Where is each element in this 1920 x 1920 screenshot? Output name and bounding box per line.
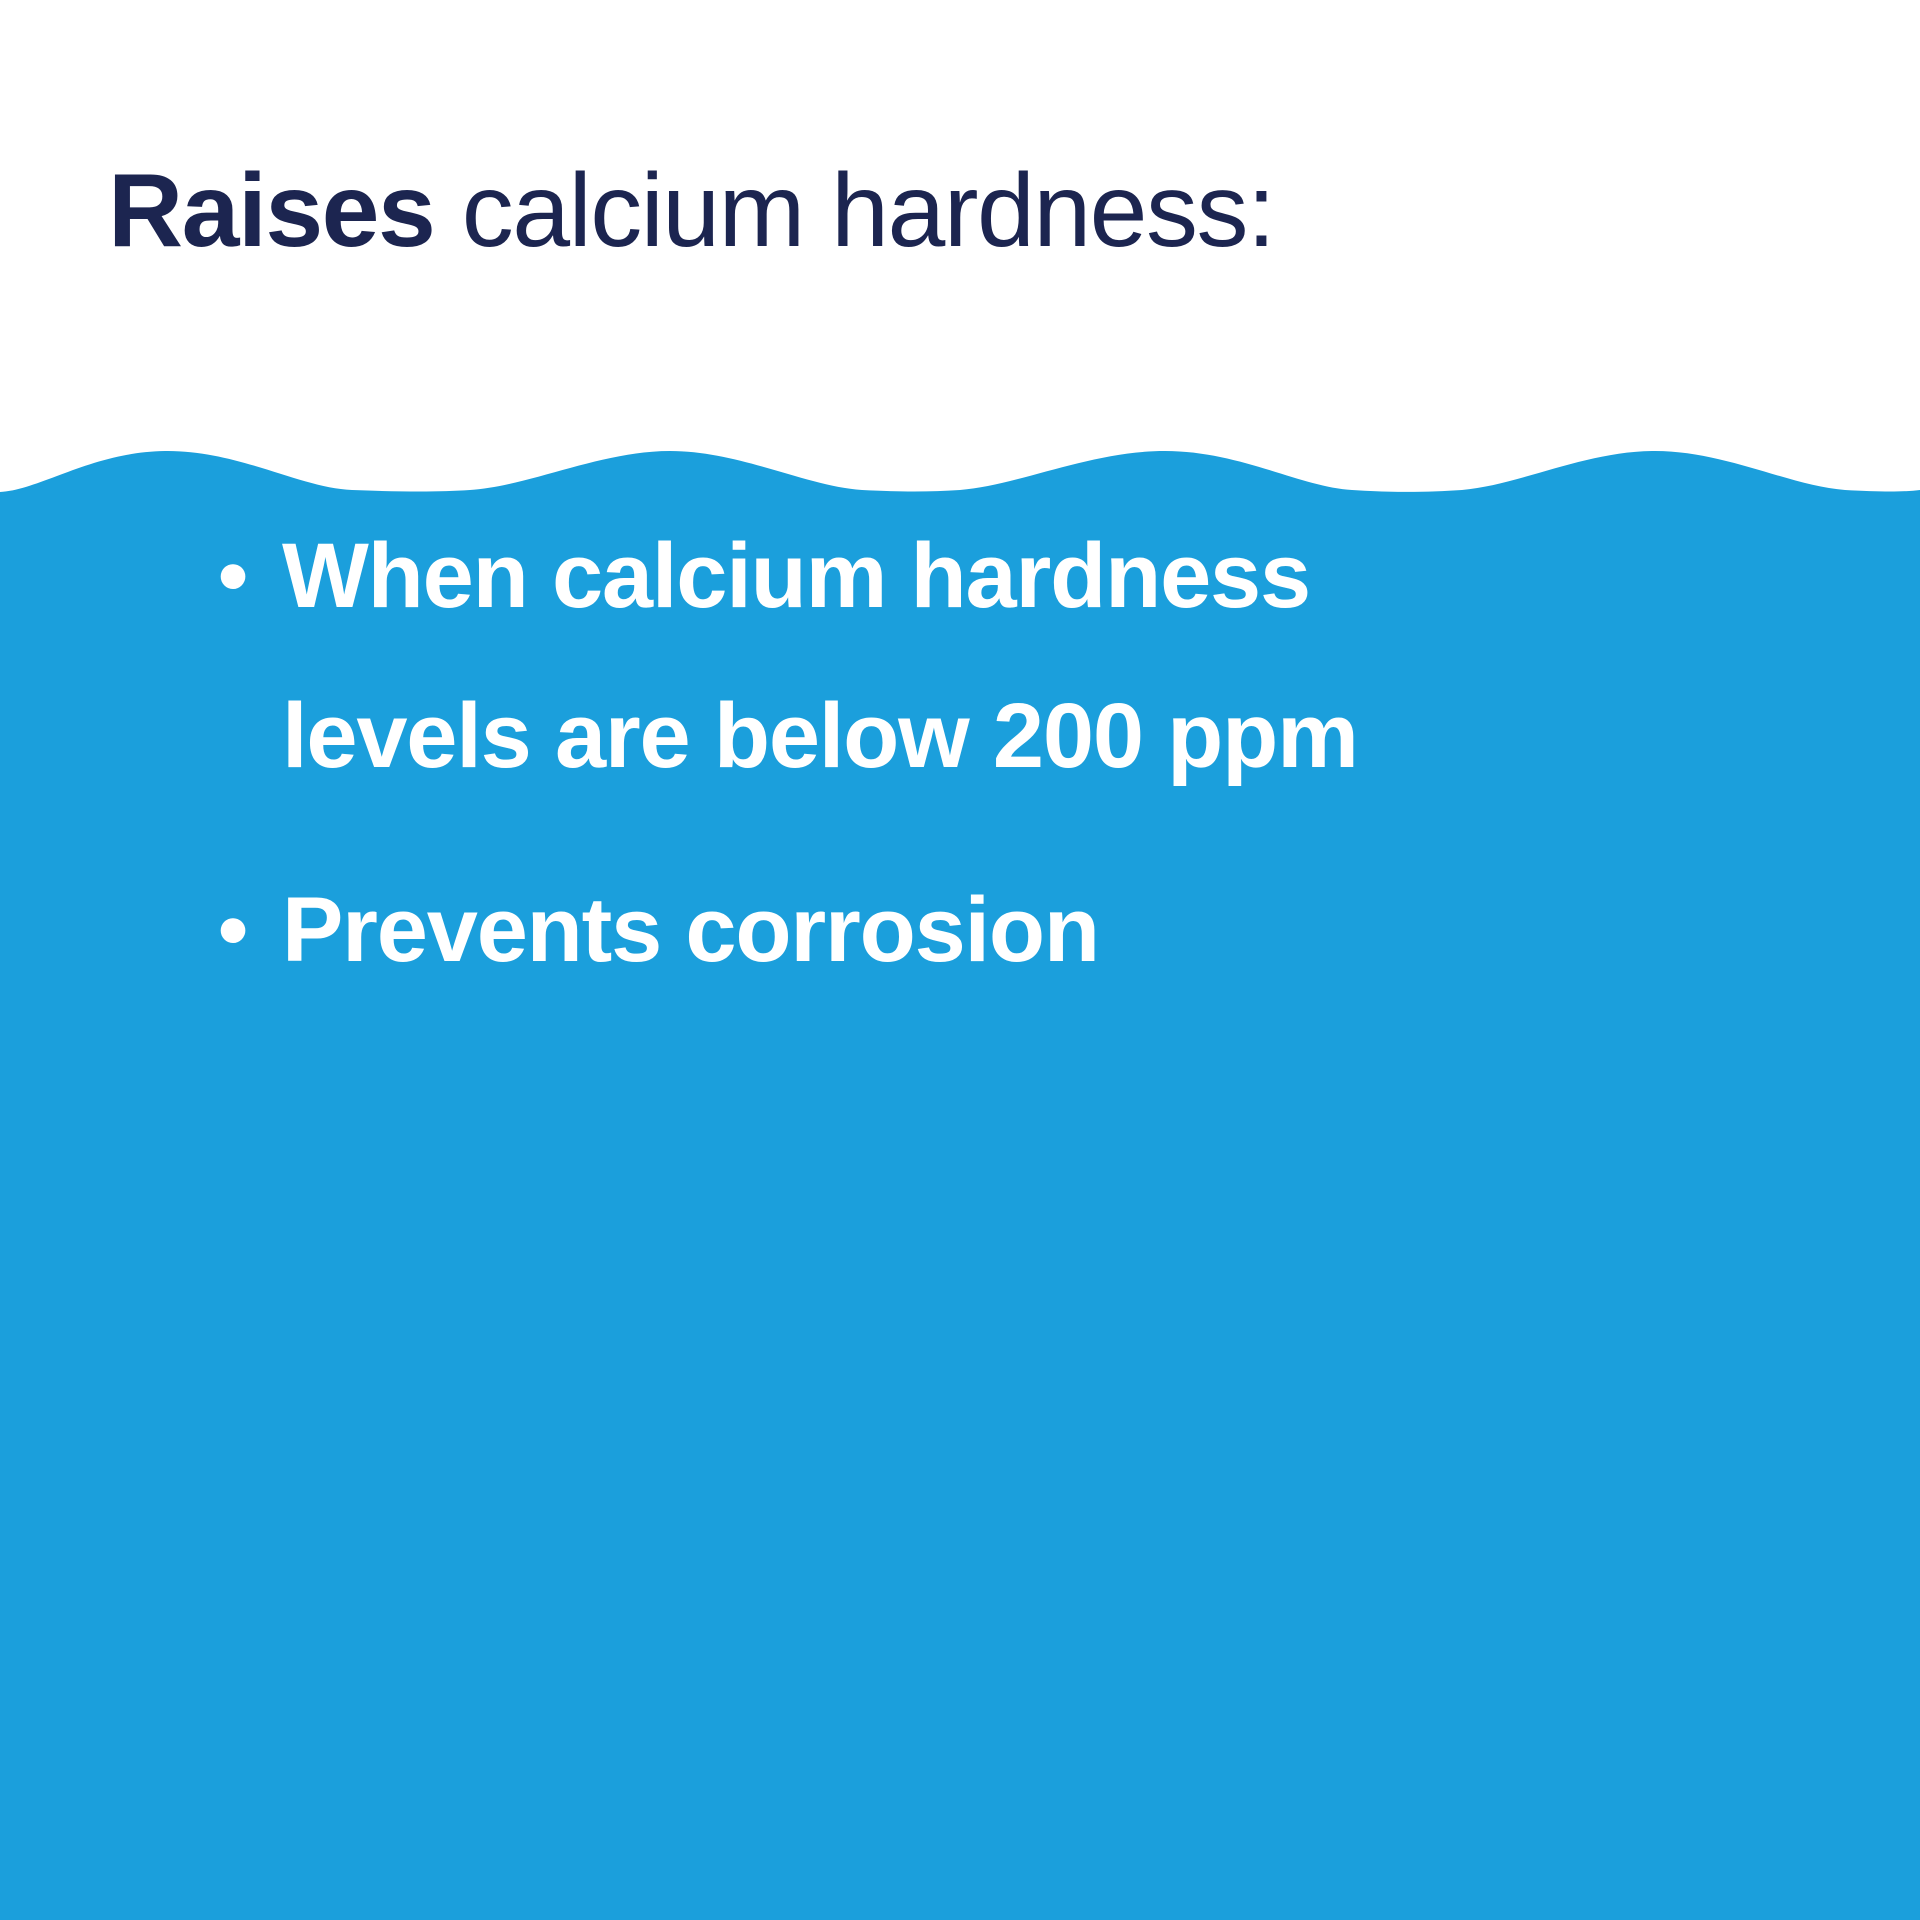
list-item: • Prevents corrosion (0, 850, 1920, 1010)
list-item: • When calcium hardness levels are below… (0, 496, 1920, 816)
page-title-strong: Raises (108, 153, 434, 269)
bullet-point-icon: • (218, 850, 256, 1010)
heading-zone: Raises calcium hardness: (0, 0, 1920, 445)
list-item-label: Prevents corrosion (282, 850, 1099, 1010)
page-title: Raises calcium hardness: (108, 152, 1274, 270)
bullet-list: • When calcium hardness levels are below… (0, 496, 1920, 1044)
page-title-rest: calcium hardness: (434, 153, 1274, 269)
bullet-point-icon: • (218, 496, 256, 656)
body-zone: • When calcium hardness levels are below… (0, 496, 1920, 1920)
list-item-label: When calcium hardness levels are below 2… (282, 496, 1442, 816)
infographic-card: Raises calcium hardness: • When calcium … (0, 0, 1920, 1920)
